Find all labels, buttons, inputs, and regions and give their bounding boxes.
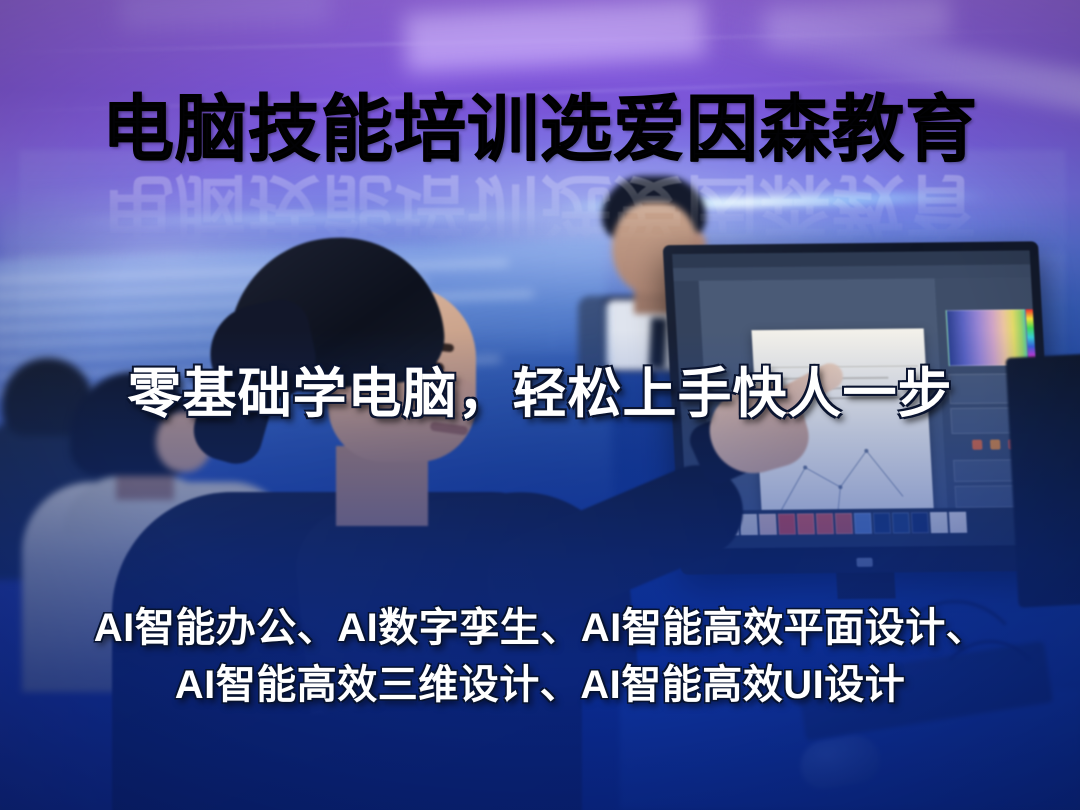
course-line-2: AI智能高效三维设计、AI智能高效UI设计 [0, 657, 1080, 714]
subtitle: 零基础学电脑，轻松上手快人一步 [0, 366, 1080, 423]
course-line-1: AI智能办公、AI数字孪生、AI智能高效平面设计、 [0, 600, 1080, 657]
course-list: AI智能办公、AI数字孪生、AI智能高效平面设计、 AI智能高效三维设计、AI智… [0, 600, 1080, 714]
promo-poster: 电脑技能培训选爱因森教育 电脑技能培训选爱因森教育 零基础学电脑，轻松上手快人一… [0, 0, 1080, 810]
page-title: 电脑技能培训选爱因森教育 [0, 94, 1080, 166]
